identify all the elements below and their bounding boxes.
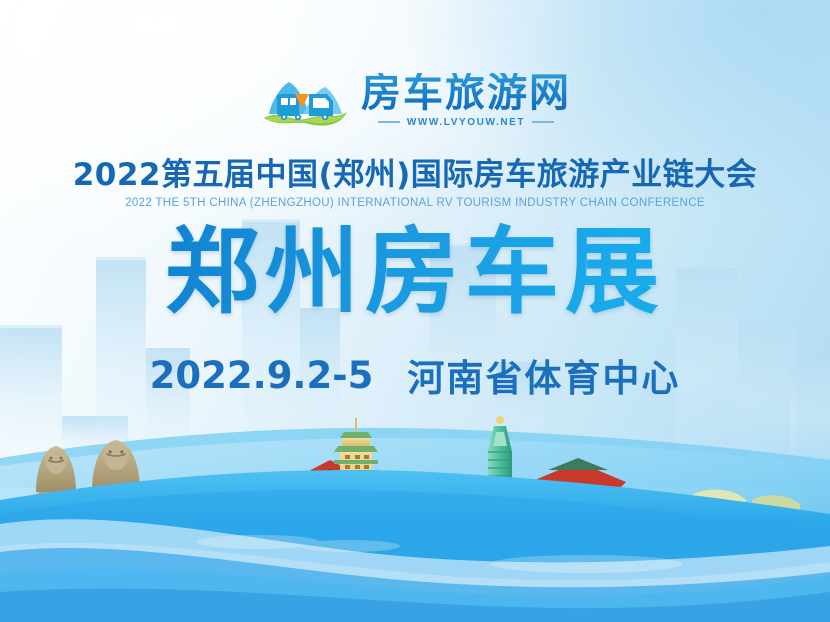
conference-title-en: 2022 THE 5TH CHINA (ZHENGZHOU) INTERNATI… — [0, 197, 830, 209]
logo-url: WWW.LVYOUW.NET — [407, 117, 525, 128]
conference-title-cn: 2022第五届中国(郑州)国际房车旅游产业链大会 — [0, 158, 830, 192]
event-date: 2022.9.2-5 — [150, 354, 374, 397]
event-headline: 郑州房车展 — [0, 222, 830, 324]
dash-right-icon — [532, 121, 554, 123]
event-poster: 房车旅游网 WWW.LVYOUW.NET 2022第五届中国(郑州)国际房车旅游… — [0, 0, 830, 622]
event-meta: 2022.9.2-5 河南省体育中心 — [0, 348, 830, 402]
logo-brand-name: 房车旅游网 — [361, 73, 571, 113]
rv-mountain-logo-icon — [259, 68, 351, 132]
logo-text-block: 房车旅游网 WWW.LVYOUW.NET — [361, 73, 571, 128]
landmark-illustration — [0, 396, 830, 622]
dash-left-icon — [378, 121, 400, 123]
event-venue: 河南省体育中心 — [407, 348, 680, 402]
site-logo[interactable]: 房车旅游网 WWW.LVYOUW.NET — [0, 60, 830, 140]
logo-url-row: WWW.LVYOUW.NET — [361, 117, 571, 128]
